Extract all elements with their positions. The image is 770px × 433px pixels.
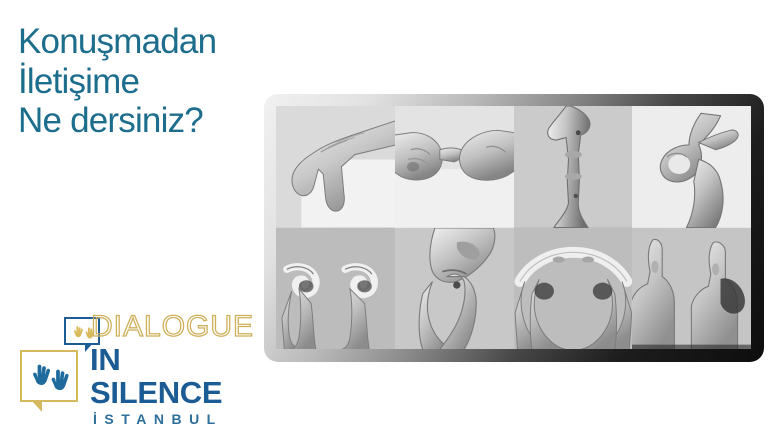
speech-bubble-large-icon: [20, 350, 78, 402]
photo-cell-7: [514, 228, 633, 350]
hands-arch-icon: [514, 228, 633, 350]
two-fists-touching-icon: [395, 106, 514, 228]
photo-cell-1: [276, 106, 395, 228]
photo-cell-5: [276, 228, 395, 350]
headline-line-2: İletişime: [18, 62, 288, 102]
photo-screen: [276, 106, 751, 349]
hand-pointing-down-icon: [276, 106, 395, 228]
ok-hand-gesture-icon: [632, 106, 751, 228]
brand-logo: DIALOGUE IN SILENCE İSTANBUL: [18, 312, 258, 422]
two-index-fingers-up-icon: [632, 228, 751, 350]
photo-cell-4: [632, 106, 751, 228]
photo-grid: [276, 106, 751, 349]
page-title: Konuşmadan İletişime Ne dersiniz?: [18, 22, 288, 141]
photo-cell-8: [632, 228, 751, 350]
wordmark-istanbul: İSTANBUL: [93, 412, 260, 427]
wordmark-in-silence: IN SILENCE: [90, 344, 260, 409]
photo-frame-bezel: [264, 94, 764, 362]
wordmark-dialogue: DIALOGUE: [91, 312, 260, 342]
photo-cell-6: [395, 228, 514, 350]
vertical-finger-icon: [514, 106, 633, 228]
brand-wordmark: DIALOGUE IN SILENCE İSTANBUL: [90, 312, 260, 427]
headline-line-3: Ne dersiniz?: [18, 101, 288, 141]
two-curved-hands-icon: [276, 228, 395, 350]
photo-cell-3: [514, 106, 633, 228]
finger-at-lips-profile-icon: [395, 228, 514, 350]
headline-line-1: Konuşmadan: [18, 22, 288, 62]
hands-blue-icon: [29, 359, 71, 396]
poster-canvas: Konuşmadan İletişime Ne dersiniz? DIALOG: [0, 0, 770, 433]
photo-cell-2: [395, 106, 514, 228]
